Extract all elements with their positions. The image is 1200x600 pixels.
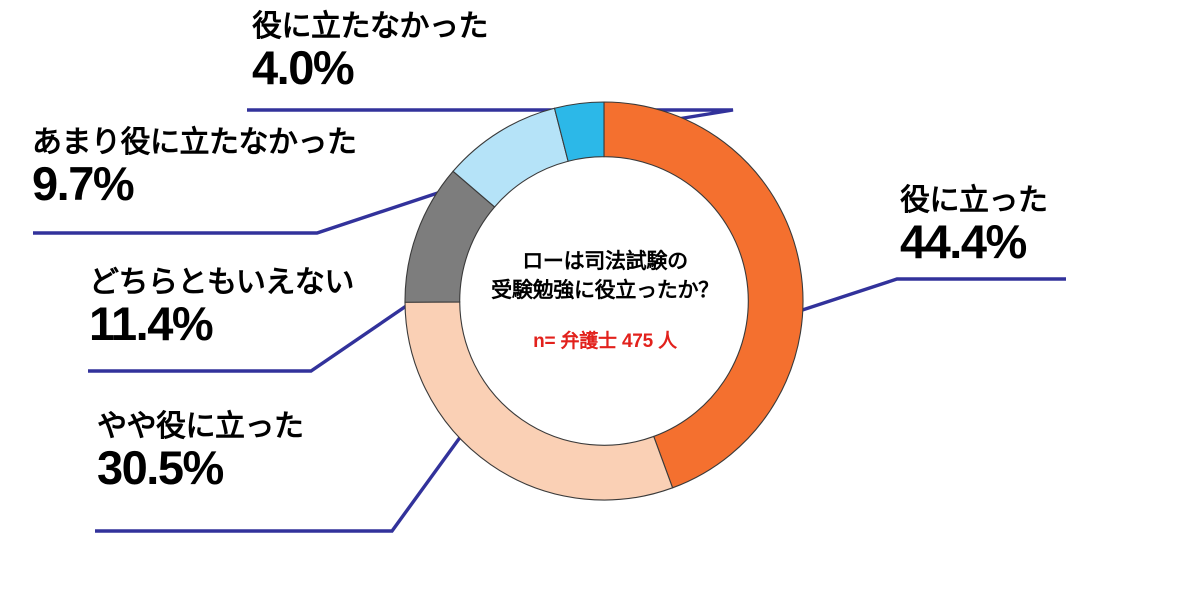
center-sample-size: n= 弁護士 475 人 [460,326,750,353]
callout-dochiratomo-ienai: どちらともいえない 11.4% [89,268,354,348]
callout-percent-value: 4.0% [252,44,488,92]
callout-category-label: 役に立たなかった [252,12,488,43]
donut-chart-figure: ローは司法試験の 受験勉強に役立ったか？ n= 弁護士 475 人 役に立った … [0,0,1200,600]
callout-percent-value: 44.4% [900,218,1048,266]
callout-category-label: あまり役に立たなかった [32,128,357,159]
callout-category-label: どちらともいえない [89,268,354,299]
callout-amari-yakunitatanakatta: あまり役に立たなかった 9.7% [32,128,357,208]
center-question-line-1: ローは司法試験の [460,248,750,277]
callout-percent-value: 30.5% [97,444,304,492]
center-question-line-2: 受験勉強に役立ったか？ [460,277,750,306]
callout-category-label: 役に立った [900,186,1048,217]
donut-center-text: ローは司法試験の 受験勉強に役立ったか？ n= 弁護士 475 人 [460,248,750,353]
callout-yakunitatanakatta: 役に立たなかった 4.0% [252,12,488,92]
callout-percent-value: 9.7% [32,160,357,208]
callout-percent-value: 11.4% [89,300,354,348]
leader-line-yakunitatta [781,279,1066,317]
callout-yaya-yakunitatta: やや役に立った 30.5% [97,412,304,492]
callout-yakunitatta: 役に立った 44.4% [900,186,1048,266]
callout-category-label: やや役に立った [97,412,304,443]
